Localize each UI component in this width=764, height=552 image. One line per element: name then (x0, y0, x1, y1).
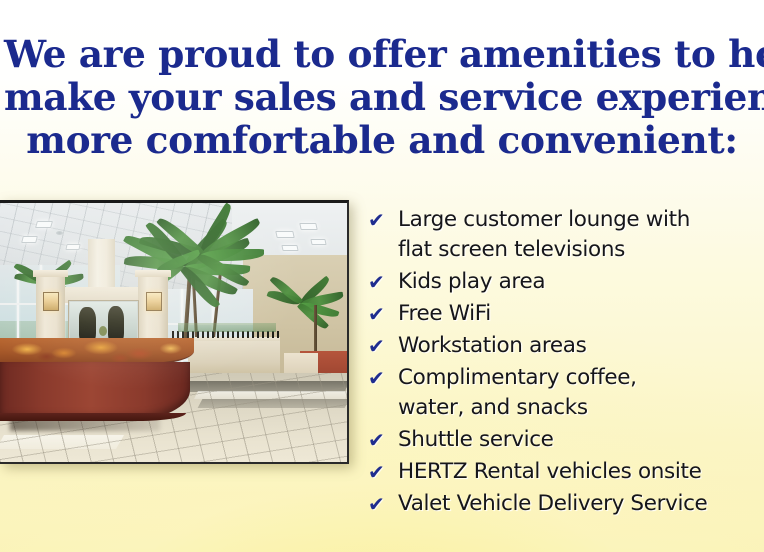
list-item-label: Kids play area (398, 267, 764, 297)
headline-line-3: more comfortable and convenient: (4, 119, 760, 162)
check-icon: ✔ (368, 425, 398, 455)
check-icon: ✔ (368, 267, 398, 297)
list-item: ✔ Free WiFi (368, 299, 764, 329)
list-item-label: HERTZ Rental vehicles onsite (398, 457, 764, 487)
list-item: ✔ Kids play area (368, 267, 764, 297)
list-item: ✔ HERTZ Rental vehicles onsite (368, 457, 764, 487)
check-icon: ✔ (368, 299, 398, 329)
check-icon: ✔ (368, 489, 398, 519)
list-item-label: Valet Vehicle Delivery Service (398, 489, 764, 519)
photo-light-wash (0, 203, 347, 462)
amenities-list: ✔ Large customer lounge with flat screen… (368, 205, 764, 521)
list-item-label: Complimentary coffee, water, and snacks (398, 363, 764, 423)
list-item: ✔ Workstation areas (368, 331, 764, 361)
headline-line-1: We are proud to offer amenities to help (4, 33, 760, 76)
page-title: We are proud to offer amenities to help … (0, 33, 764, 162)
list-item-label: Workstation areas (398, 331, 764, 361)
photo-frame (0, 200, 349, 464)
list-item: ✔ Large customer lounge with flat screen… (368, 205, 764, 265)
photo-image (0, 203, 347, 462)
check-icon: ✔ (368, 205, 398, 235)
list-item-label: Shuttle service (398, 425, 764, 455)
list-item-label: Free WiFi (398, 299, 764, 329)
check-icon: ✔ (368, 457, 398, 487)
check-icon: ✔ (368, 363, 398, 393)
list-item: ✔ Shuttle service (368, 425, 764, 455)
lobby-photo (0, 200, 349, 464)
list-item-label: Large customer lounge with flat screen t… (398, 205, 764, 265)
headline-line-2: make your sales and service experience (4, 76, 760, 119)
amenities-slide: We are proud to offer amenities to help … (0, 0, 764, 552)
list-item: ✔ Valet Vehicle Delivery Service (368, 489, 764, 519)
list-item: ✔ Complimentary coffee, water, and snack… (368, 363, 764, 423)
check-icon: ✔ (368, 331, 398, 361)
